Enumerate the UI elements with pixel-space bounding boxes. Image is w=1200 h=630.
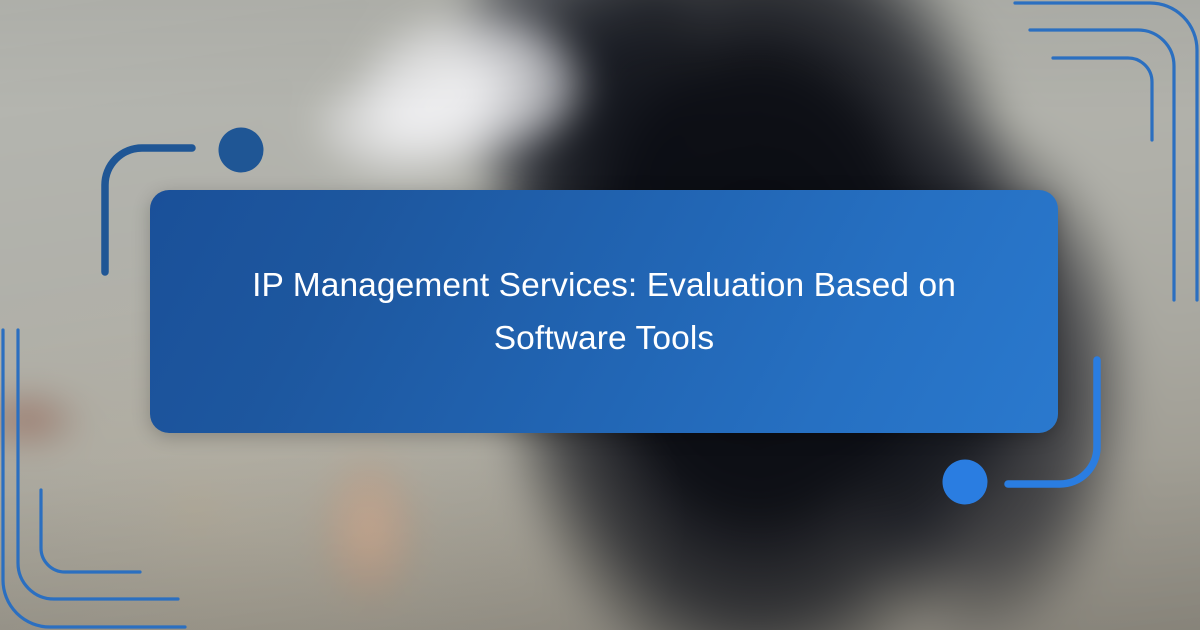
page-title: IP Management Services: Evaluation Based… — [218, 259, 990, 365]
title-card: IP Management Services: Evaluation Based… — [150, 190, 1058, 433]
dot-bottom-right — [943, 460, 988, 505]
share-card-canvas: IP Management Services: Evaluation Based… — [0, 0, 1200, 630]
dot-top-left — [219, 128, 264, 173]
